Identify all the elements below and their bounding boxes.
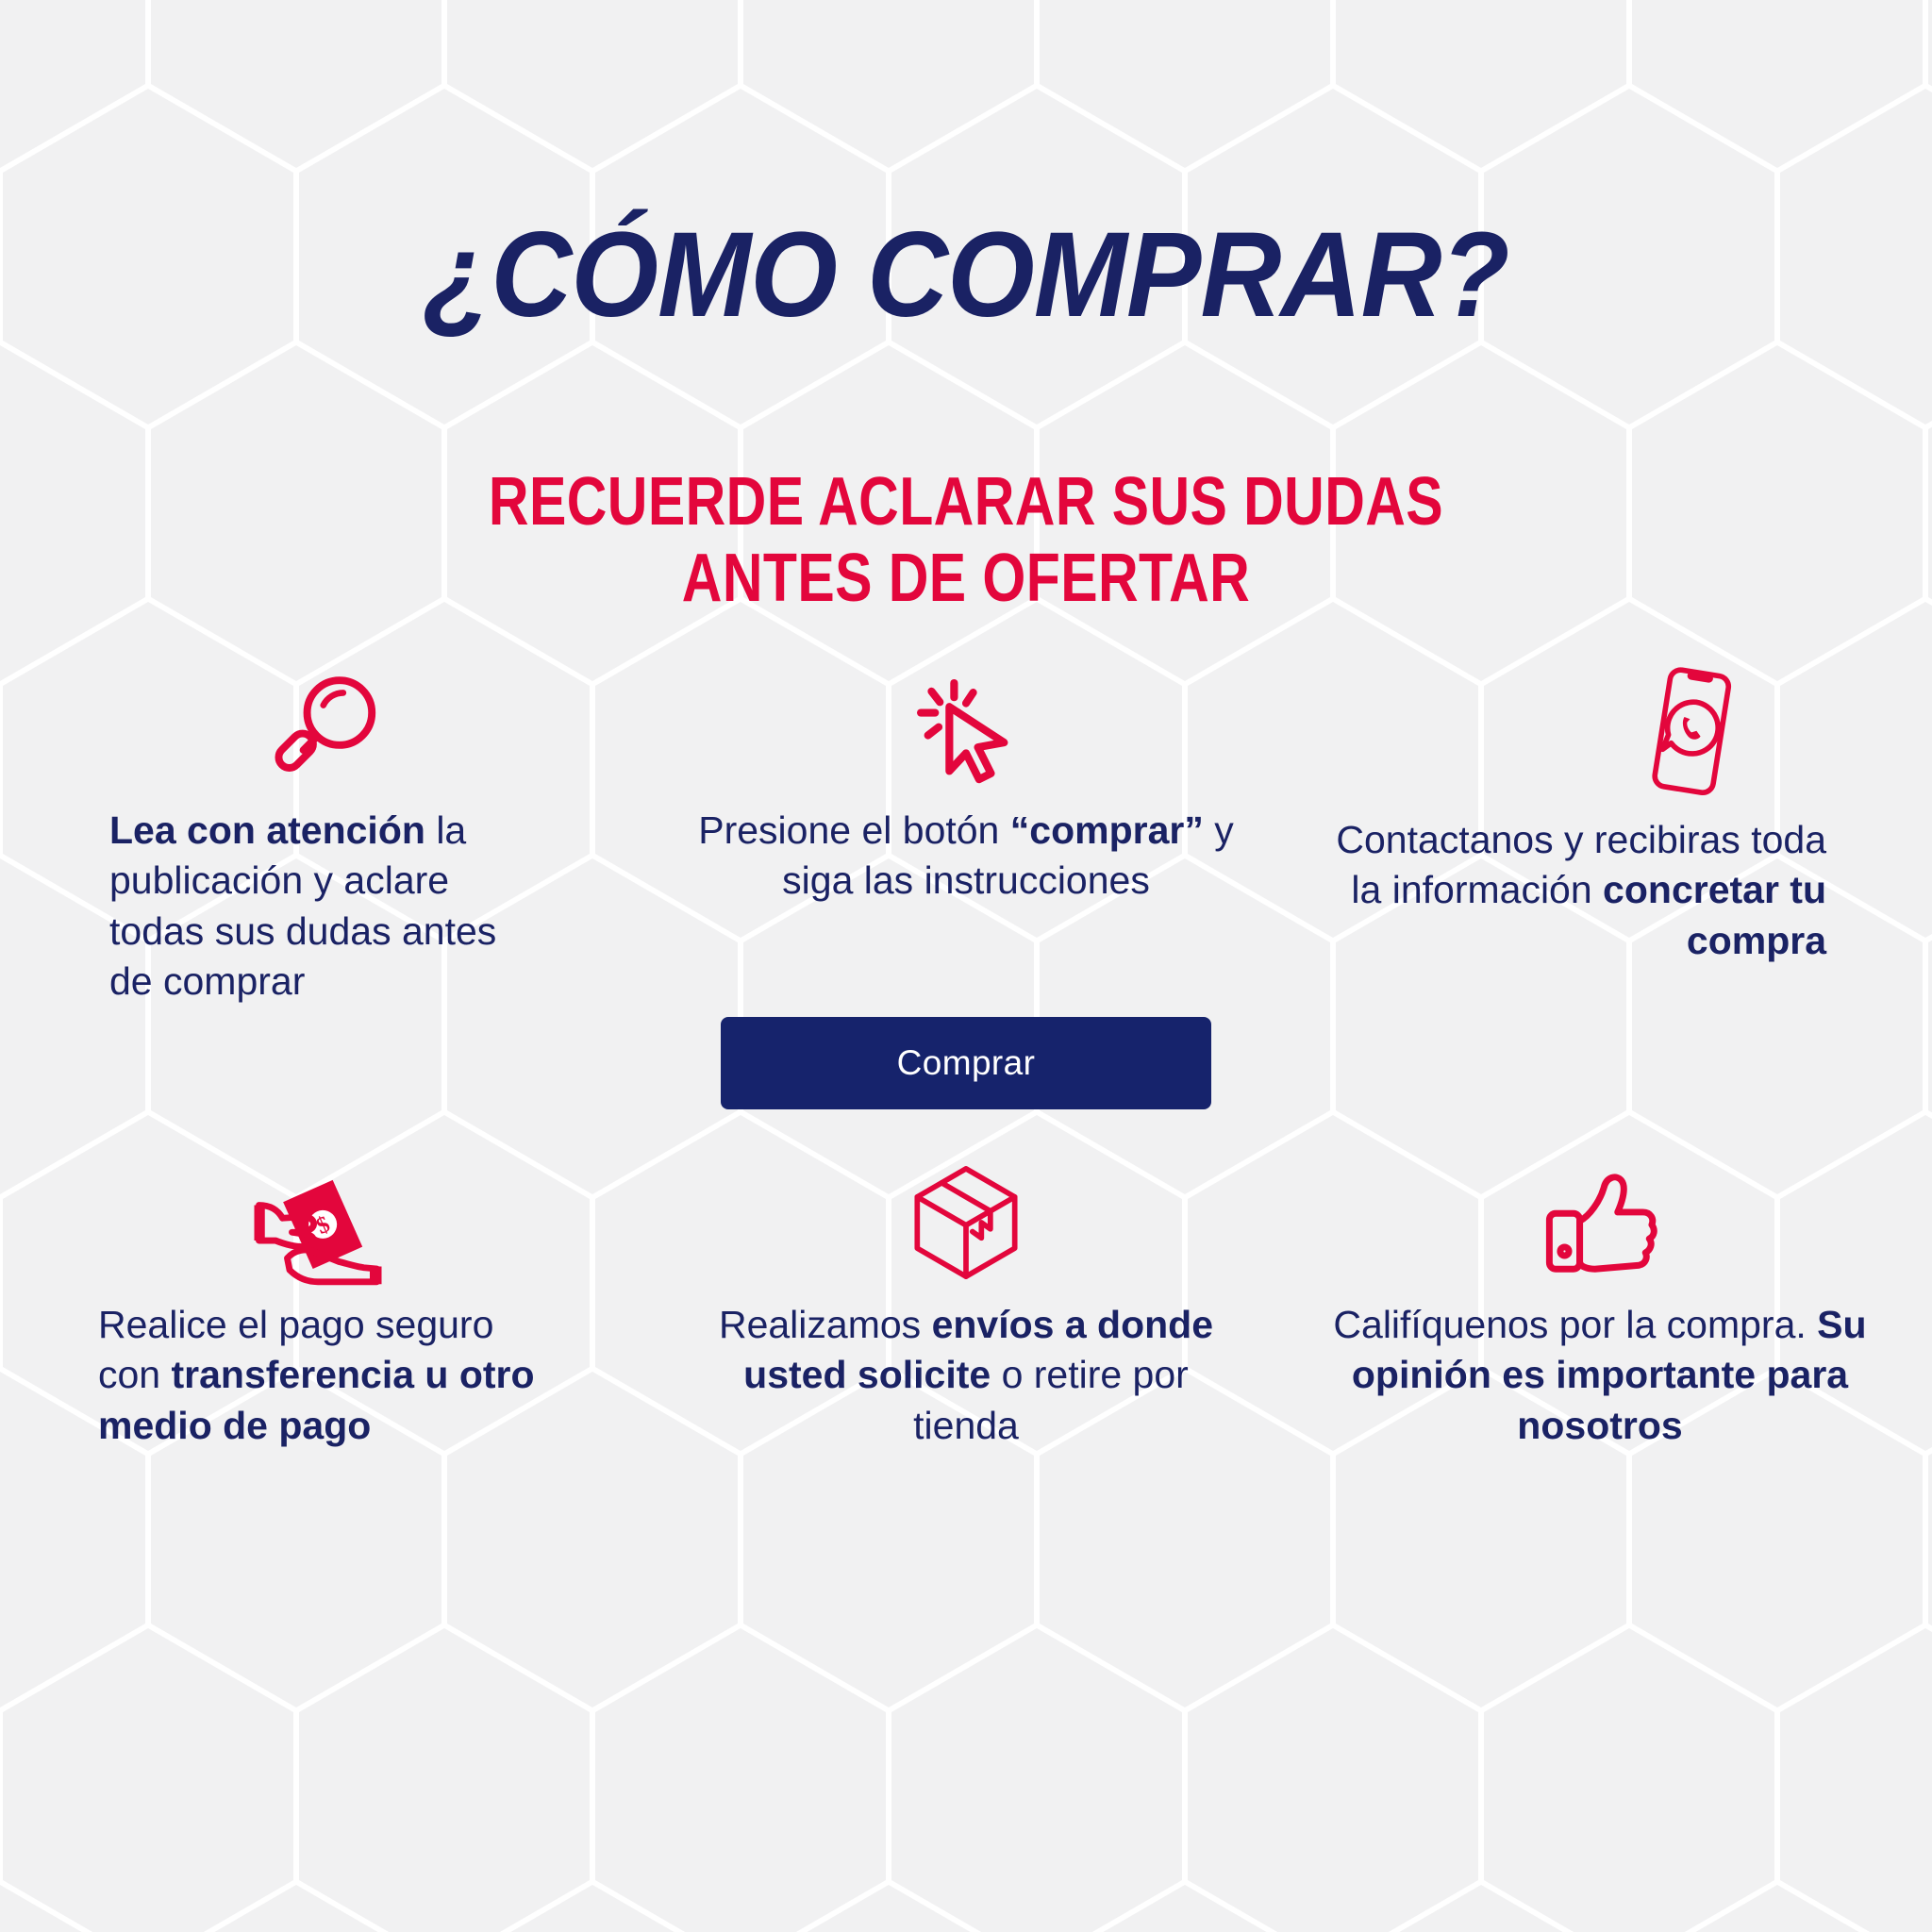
- magnifying-glass-icon: [266, 668, 391, 792]
- money-hands-icon: $: [247, 1166, 389, 1287]
- icon-slot: [692, 1145, 1240, 1287]
- page-subtitle: RECUERDE ACLARAR SUS DUDAS ANTES DE OFER…: [174, 464, 1757, 616]
- thumbs-up-icon: [1537, 1160, 1663, 1287]
- step-text: Realizamos envíos a donde usted solicite…: [692, 1300, 1240, 1451]
- icon-slot: [1326, 651, 1874, 802]
- icon-slot: [58, 651, 606, 792]
- step-text: Realice el pago seguro con transferencia…: [58, 1300, 549, 1451]
- whatsapp-phone-icon: [1630, 660, 1751, 802]
- step-card-califiquenos: Califíquenos por la compra. Su opinión e…: [1326, 1145, 1874, 1451]
- poster-stage: ¿CÓMO COMPRAR? RECUERDE ACLARAR SUS DUDA…: [0, 0, 1932, 1932]
- comprar-button[interactable]: Comprar: [721, 1017, 1211, 1109]
- icon-slot: [1326, 1145, 1874, 1287]
- step-card-contactanos: Contactanos y recibiras toda la informac…: [1326, 651, 1874, 966]
- click-cursor-icon: [907, 674, 1025, 792]
- package-box-icon: [902, 1158, 1030, 1287]
- step-text: Presione el botón “comprar” y siga las i…: [692, 806, 1240, 907]
- subtitle-line-2: ANTES DE OFERTAR: [174, 541, 1757, 617]
- step-card-envios: Realizamos envíos a donde usted solicite…: [692, 1145, 1240, 1451]
- step-card-pago-seguro: $ Realice el pago seguro con transferenc…: [58, 1145, 606, 1451]
- steps-grid: Lea con atención la publicación y aclare…: [0, 651, 1932, 1594]
- icon-slot: [692, 651, 1240, 792]
- page-title: ¿CÓMO COMPRAR?: [68, 215, 1865, 336]
- step-text: Contactanos y recibiras toda la informac…: [1326, 815, 1855, 966]
- subtitle-line-1: RECUERDE ACLARAR SUS DUDAS: [489, 464, 1443, 540]
- step-text: Lea con atención la publicación y aclare…: [58, 806, 545, 1007]
- icon-slot: $: [58, 1145, 606, 1287]
- step-text: Califíquenos por la compra. Su opinión e…: [1326, 1300, 1874, 1451]
- step-card-presione-boton: Presione el botón “comprar” y siga las i…: [692, 651, 1240, 907]
- step-card-lea-con-atencion: Lea con atención la publicación y aclare…: [58, 651, 606, 1007]
